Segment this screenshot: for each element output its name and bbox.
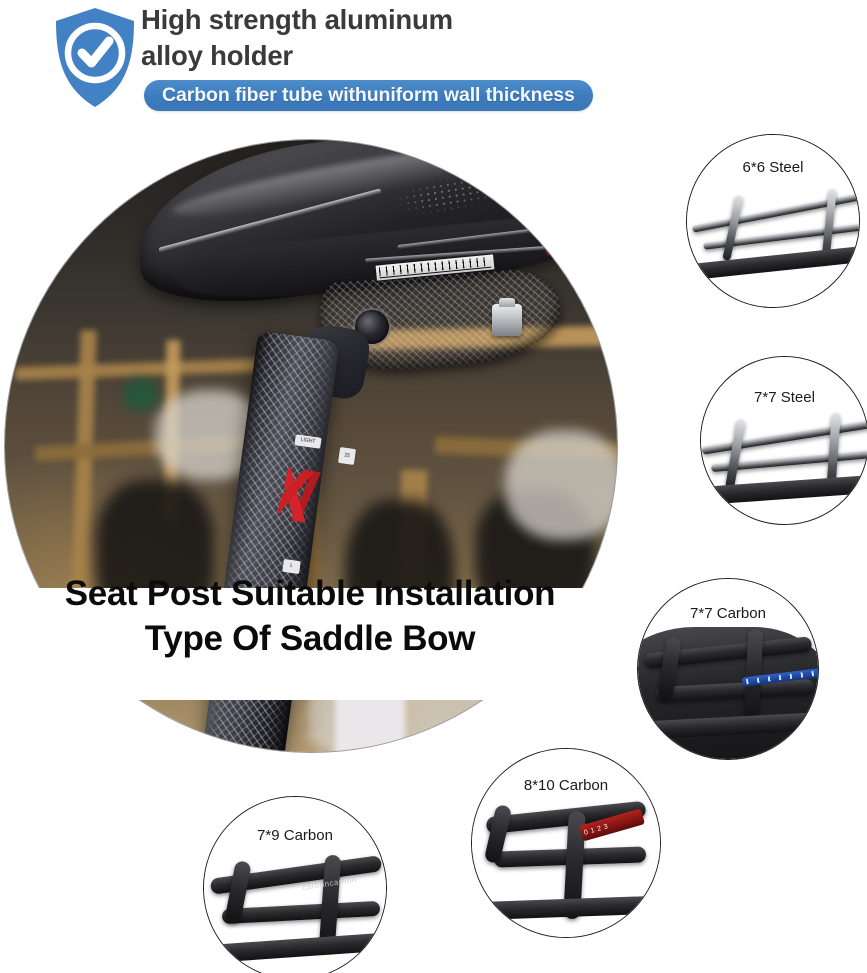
- callout-photo: carboncarbon: [204, 797, 386, 973]
- callout-7x7-carbon: 7*7 Carbon: [637, 578, 819, 760]
- product-infographic: High strength aluminum alloy holder Carb…: [0, 0, 867, 973]
- callout-label: 8*10 Carbon: [472, 777, 660, 794]
- page-title: High strength aluminum alloy holder: [141, 2, 571, 74]
- callout-label: 6*6 Steel: [687, 159, 859, 176]
- silver-adjust-bolt: [492, 304, 522, 336]
- header: High strength aluminum alloy holder Carb…: [0, 0, 867, 122]
- callout-6x6-steel: 6*6 Steel: [686, 134, 860, 308]
- callout-7x7-steel: 7*7 Steel: [700, 356, 867, 525]
- green-object-blob: [123, 378, 159, 412]
- light-wall-blob: [505, 430, 617, 540]
- seatpost-label-sticker: 25: [338, 447, 356, 465]
- callout-photo: [701, 357, 867, 524]
- shield-check-icon: [52, 6, 138, 110]
- callout-label: 7*9 Carbon: [204, 827, 386, 844]
- callout-label: 7*7 Carbon: [638, 605, 818, 622]
- feature-banner: Carbon fiber tube withuniform wall thick…: [144, 80, 593, 111]
- main-caption: Seat Post Suitable Installation Type Of …: [0, 572, 620, 662]
- callout-label: 7*7 Steel: [701, 389, 867, 406]
- callout-7x9-carbon: carboncarbon 7*9 Carbon: [203, 796, 387, 973]
- feature-banner-label: Carbon fiber tube withuniform wall thick…: [162, 84, 575, 107]
- callout-8x10-carbon: 0 1 2 3 8*10 Carbon: [471, 748, 661, 938]
